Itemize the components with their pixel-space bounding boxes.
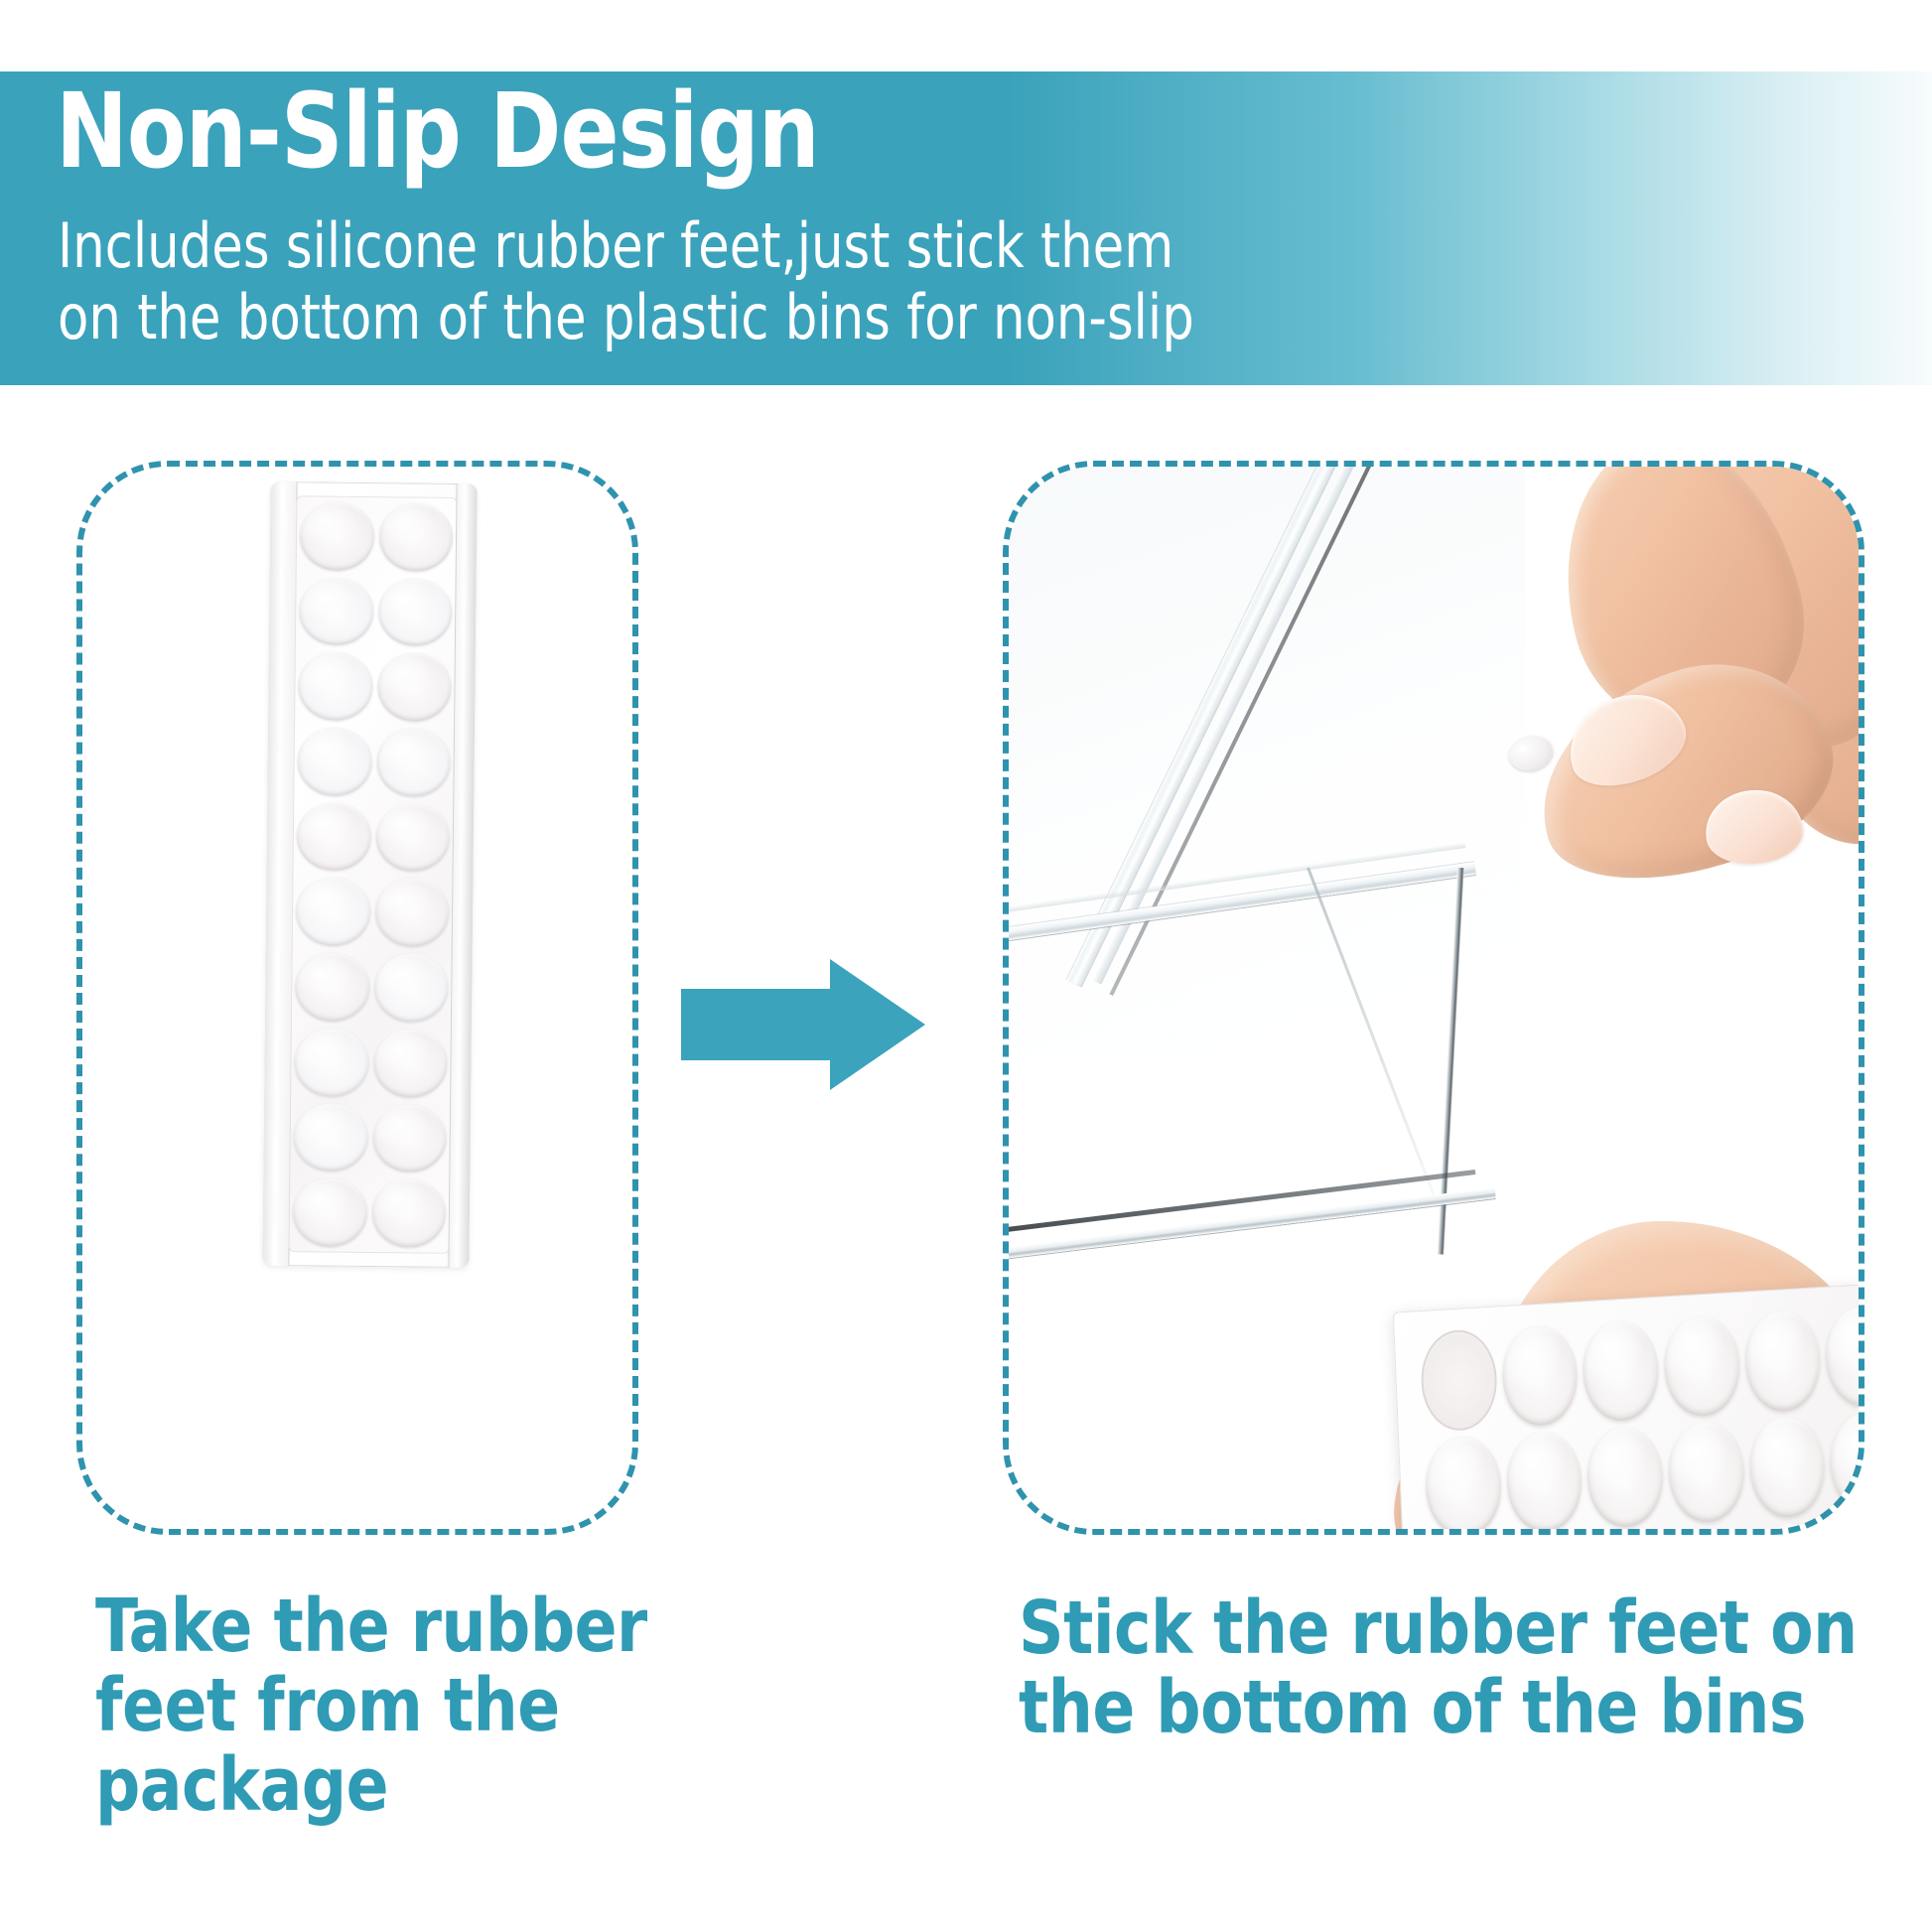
rubber-foot-dome	[373, 1029, 448, 1097]
header-banner-text-block: Non-Slip Design Includes silicone rubber…	[56, 71, 1932, 385]
rubber-foot-dome	[299, 577, 373, 645]
rubber-foot-dome	[297, 727, 371, 795]
upper-hand	[1475, 467, 1859, 1042]
rubber-feet-package-photo	[82, 467, 632, 1529]
rubber-foot-dome	[293, 1178, 367, 1247]
arrow-right-icon	[681, 959, 925, 1090]
rubber-foot-bump	[1662, 1313, 1741, 1418]
rubber-foot-bump	[1505, 1429, 1585, 1529]
rubber-foot-bump	[1833, 1516, 1859, 1529]
rubber-foot-bump	[1667, 1420, 1746, 1524]
step-1-photo-panel	[76, 461, 638, 1535]
rubber-foot-dome	[374, 879, 449, 947]
page-subtitle-line-1: Includes silicone rubber feet,just stick…	[58, 210, 1194, 282]
rubber-foot-dome	[377, 652, 452, 721]
rubber-foot-dome	[298, 652, 372, 721]
rubber-foot-being-applied	[1506, 732, 1557, 775]
rubber-foot-bump	[1420, 1328, 1499, 1433]
step-1-caption: Take the rubber feet from the package	[95, 1587, 680, 1825]
blister-package	[262, 482, 477, 1268]
rubber-foot-bump	[1829, 1410, 1859, 1514]
rubber-foot-dome	[295, 952, 369, 1021]
blister-tray	[288, 495, 457, 1254]
rubber-foot-dome	[375, 803, 450, 872]
infographic-page: Non-Slip Design Includes silicone rubber…	[0, 0, 1932, 1932]
rubber-foot-bump	[1424, 1434, 1503, 1529]
rubber-foot-dome	[294, 1028, 368, 1096]
header-banner: Non-Slip Design Includes silicone rubber…	[0, 71, 1932, 385]
rubber-foot-bump	[1743, 1309, 1823, 1413]
rubber-foot-bump	[1752, 1521, 1832, 1529]
rubber-foot-dome	[371, 1178, 446, 1247]
rubber-foot-dome	[377, 578, 452, 646]
rubber-foot-bump	[1586, 1425, 1665, 1529]
rubber-feet-sheet	[1393, 1282, 1859, 1529]
rubber-foot-dome	[376, 728, 451, 796]
next-step-arrow	[681, 959, 925, 1090]
rubber-foot-dome	[372, 1104, 447, 1173]
sticking-rubber-feet-photo	[1009, 467, 1859, 1529]
step-2-photo-panel	[1003, 461, 1864, 1535]
rubber-foot-dome	[296, 878, 370, 946]
rubber-foot-bump	[1500, 1323, 1580, 1428]
page-subtitle-line-2: on the bottom of the plastic bins for no…	[58, 282, 1194, 353]
rubber-foot-dome	[300, 501, 374, 570]
page-subtitle: Includes silicone rubber feet,just stick…	[58, 210, 1194, 353]
rubber-foot-dome	[297, 802, 371, 871]
rubber-foot-bump	[1824, 1304, 1859, 1408]
rubber-foot-dome	[373, 953, 448, 1022]
step-2-caption: Stick the rubber feet on the bottom of t…	[1019, 1588, 1867, 1747]
rubber-foot-dome	[378, 502, 453, 571]
rubber-foot-dome	[293, 1103, 367, 1172]
rubber-foot-bump	[1582, 1318, 1661, 1423]
page-title: Non-Slip Design	[56, 79, 819, 183]
rubber-foot-bump	[1747, 1415, 1827, 1519]
rubber-foot-bump	[1671, 1525, 1750, 1529]
